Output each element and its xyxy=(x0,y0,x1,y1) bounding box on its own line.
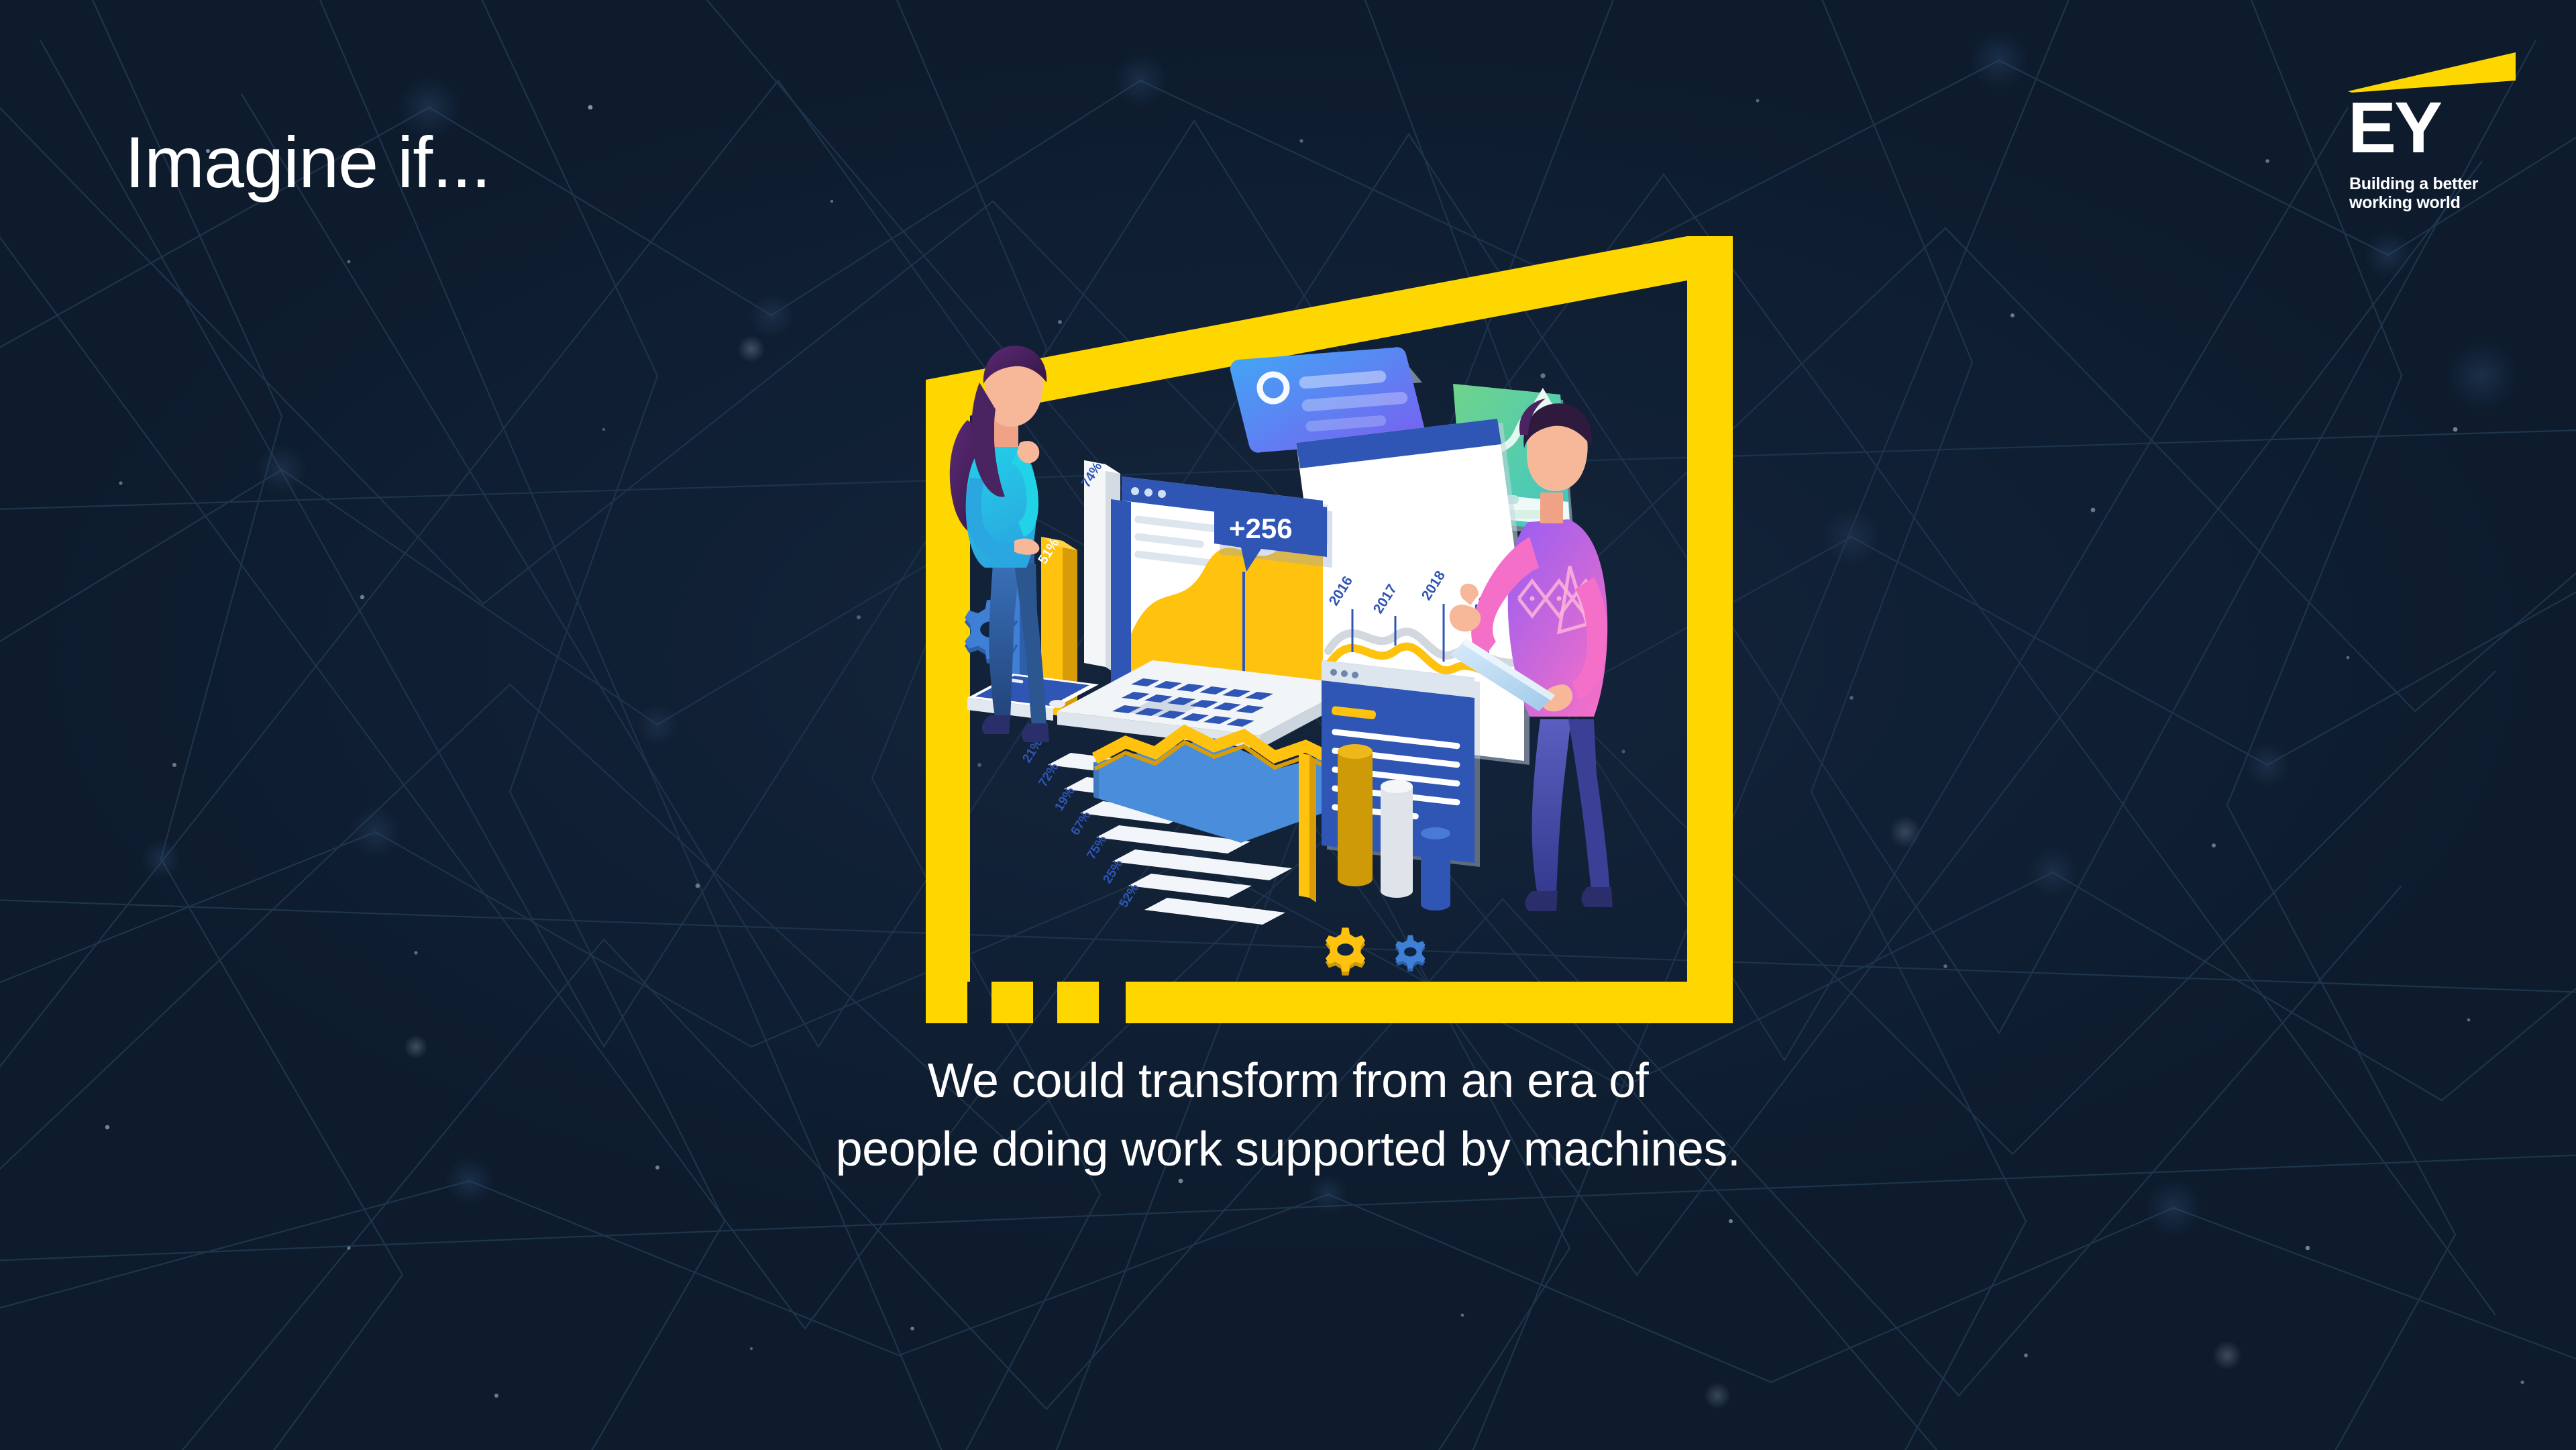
ey-wordmark: EY xyxy=(2348,94,2440,160)
page-title: Imagine if... xyxy=(125,124,490,200)
ey-tagline-line1: Building a better xyxy=(2349,174,2478,193)
isometric-analytics-illustration: 2016 2017 2018 2019 +256 74% 58% xyxy=(926,335,1717,1020)
ey-tagline-line2: working world xyxy=(2349,193,2461,212)
value-badge-text: +256 xyxy=(1229,513,1293,544)
ey-tagline: Building a better working world xyxy=(2349,174,2478,212)
slide-canvas: Imagine if... EY Building a better worki… xyxy=(0,0,2576,1450)
person-woman-thinking xyxy=(950,346,1049,742)
caption-line-2: people doing work supported by machines. xyxy=(0,1115,2576,1184)
gear-blue-small-icon xyxy=(1395,935,1426,972)
caption-text: We could transform from an era of people… xyxy=(0,1047,2576,1184)
gear-yellow-icon xyxy=(1326,927,1365,975)
yellow-divider-bar xyxy=(1299,753,1316,902)
caption-line-1: We could transform from an era of xyxy=(0,1047,2576,1115)
ey-logo: EY Building a better working world xyxy=(2343,52,2524,240)
